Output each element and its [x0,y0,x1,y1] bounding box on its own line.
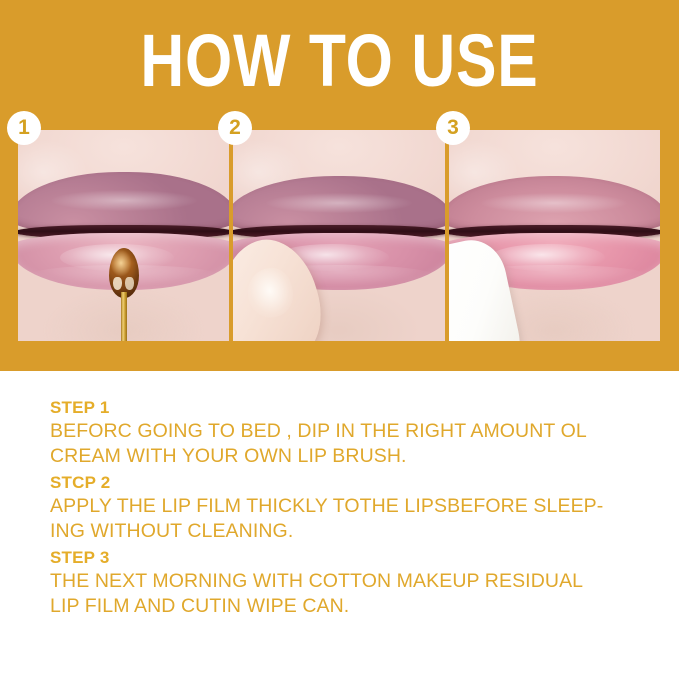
step-heading-2: STCP 2 [50,471,650,494]
page-title: HOW TO USE [61,24,618,98]
applicator-head [109,248,139,298]
step-item-1: STEP 1 BEFORC GOING TO BED , DIP IN THE … [50,396,650,469]
step-body-2: APPLY THE LIP FILM THICKLY TOTHE LIPSBEF… [50,494,650,544]
applicator-handle [121,292,127,341]
lip-brush-applicator-icon [111,248,137,341]
how-to-use-poster: HOW TO USE 1 2 3 [0,0,679,679]
step-photo-2 [233,130,444,341]
step-item-2: STCP 2 APPLY THE LIP FILM THICKLY TOTHE … [50,471,650,544]
step-heading-3: STEP 3 [50,546,650,569]
steps-list: STEP 1 BEFORC GOING TO BED , DIP IN THE … [50,396,650,621]
step-heading-1: STEP 1 [50,396,650,419]
step-photo-1 [18,130,229,341]
step-photo-3 [449,130,660,341]
photo-strip [18,130,660,341]
step-body-1: BEFORC GOING TO BED , DIP IN THE RIGHT A… [50,419,650,469]
step-item-3: STEP 3 THE NEXT MORNING WITH COTTON MAKE… [50,546,650,619]
step-badge-2: 2 [218,111,252,145]
step-badge-3: 3 [436,111,470,145]
step-body-3: THE NEXT MORNING WITH COTTON MAKEUP RESI… [50,569,650,619]
step-badge-1: 1 [7,111,41,145]
